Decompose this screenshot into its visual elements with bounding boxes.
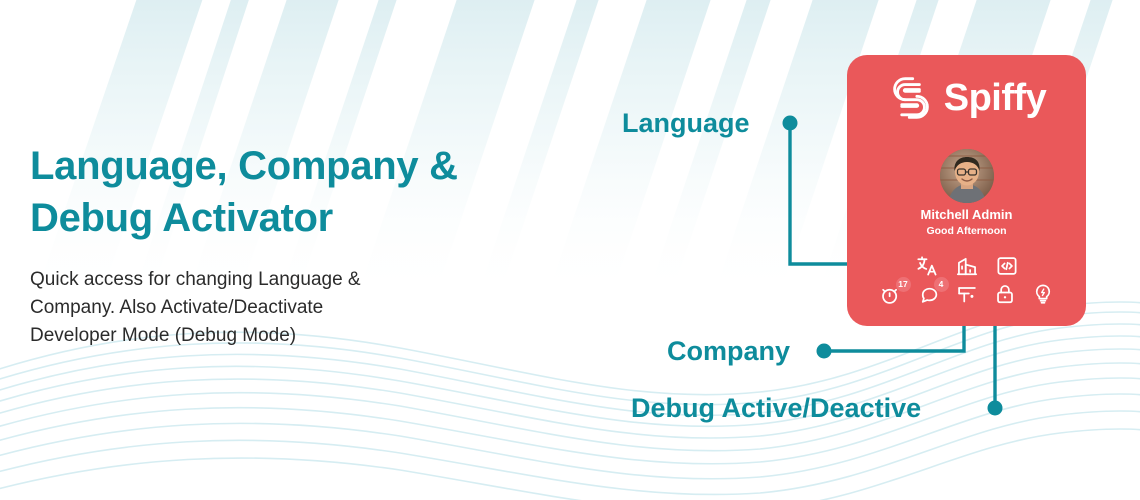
messages-badge: 4 xyxy=(934,277,949,292)
brand-name: Spiffy xyxy=(944,79,1047,117)
hero-copy: Language, Company & Debug Activator Quic… xyxy=(30,140,550,350)
activity-clock-icon[interactable]: 17 xyxy=(880,283,902,305)
lock-icon[interactable] xyxy=(994,283,1016,305)
callout-label-company: Company xyxy=(667,336,790,367)
promo-banner: Language, Company & Debug Activator Quic… xyxy=(0,0,1140,500)
callout-label-debug: Debug Active/Deactive xyxy=(631,393,921,424)
lightbulb-idea-icon[interactable] xyxy=(1032,283,1054,305)
connector-dot-language xyxy=(783,116,798,131)
debug-icon[interactable] xyxy=(996,255,1018,277)
secondary-icon-row: 17 4 xyxy=(847,283,1086,305)
user-greeting: Good Afternoon xyxy=(847,225,1086,237)
activity-badge: 17 xyxy=(896,277,911,292)
messages-chat-icon[interactable]: 4 xyxy=(918,283,940,305)
headline-line-1: Language, Company & xyxy=(30,144,458,188)
headline-line-2: Debug Activator xyxy=(30,196,333,240)
page-title: Language, Company & Debug Activator xyxy=(30,140,550,244)
spiffy-logo-icon xyxy=(887,77,935,119)
avatar xyxy=(940,149,994,203)
description-line-1: Quick access for changing Language & xyxy=(30,269,361,290)
brand-header: Spiffy xyxy=(847,77,1086,119)
page-description: Quick access for changing Language & Com… xyxy=(30,266,550,350)
description-line-2: Company. Also Activate/Deactivate xyxy=(30,297,323,318)
language-icon[interactable] xyxy=(916,255,938,277)
primary-icon-row xyxy=(847,255,1086,277)
description-line-3: Developer Mode (Debug Mode) xyxy=(30,325,296,346)
company-icon[interactable] xyxy=(956,255,978,277)
settings-preferences-icon[interactable] xyxy=(956,283,978,305)
callout-label-language: Language xyxy=(622,108,750,139)
spiffy-user-card: Spiffy xyxy=(847,55,1086,326)
connector-dot-company xyxy=(817,344,832,359)
connector-dot-debug xyxy=(988,401,1003,416)
user-name: Mitchell Admin xyxy=(847,207,1086,222)
